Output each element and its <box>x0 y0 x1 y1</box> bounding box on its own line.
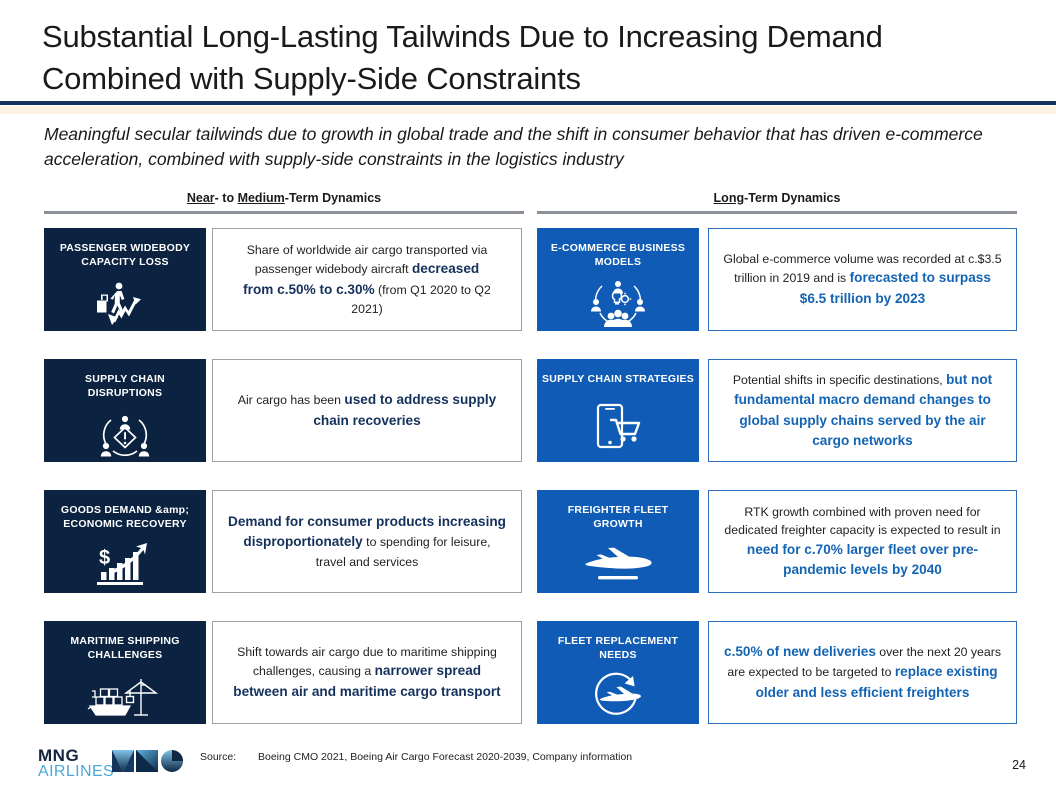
title-block: Substantial Long-Lasting Tailwinds Due t… <box>42 16 1022 99</box>
card-text: Share of worldwide air cargo transported… <box>227 241 507 318</box>
column-header-right-rule <box>537 211 1017 214</box>
tile-passenger-widebody-capacity-loss[interactable]: PASSENGER WIDEBODY CAPACITY LOSS <box>44 228 206 331</box>
source-note: Source:Boeing CMO 2021, Boeing Air Cargo… <box>200 751 632 763</box>
airplane-takeoff-icon <box>580 537 656 593</box>
list-item[interactable]: SUPPLY CHAIN DISRUPTIONS <box>44 359 522 462</box>
card-ecommerce-business-models: Global e-commerce volume was recorded at… <box>708 228 1017 331</box>
tile-maritime-shipping-challenges[interactable]: MARITIME SHIPPING CHALLENGES <box>44 621 206 724</box>
list-item[interactable]: SUPPLY CHAIN STRATEGIES <box>537 359 1017 462</box>
card-goods-demand-economic-recovery: Demand for consumer products increasing … <box>212 490 522 593</box>
svg-text:$: $ <box>99 547 110 569</box>
column-header-right-part-0: Long <box>714 191 745 205</box>
column-header-right-part-1: -Term Dynamics <box>744 191 840 205</box>
card-maritime-shipping-challenges: Shift towards air cargo due to maritime … <box>212 621 522 724</box>
tile-label: FLEET REPLACEMENT NEEDS <box>542 634 694 662</box>
mng-airlines-logo[interactable]: MNG AIRLINES <box>38 745 183 785</box>
title-divider-cream <box>0 106 1056 114</box>
traveler-with-luggage-declining-chart-icon <box>89 275 161 331</box>
column-header-left-part-3: -Term Dynamics <box>285 191 381 205</box>
logo-mark-icon <box>112 750 184 786</box>
tile-ecommerce-business-models[interactable]: E-COMMERCE BUSINESS MODELS <box>537 228 699 331</box>
list-item[interactable]: FLEET REPLACEMENT NEEDS c.50% of new del… <box>537 621 1017 724</box>
column-header-left-label: Near- to Medium-Term Dynamics <box>44 191 524 205</box>
tile-label: E-COMMERCE BUSINESS MODELS <box>542 241 694 269</box>
tile-goods-demand-economic-recovery[interactable]: GOODS DEMAND &amp; ECONOMIC RECOVERY $ <box>44 490 206 593</box>
tile-label: PASSENGER WIDEBODY CAPACITY LOSS <box>49 241 201 269</box>
list-item[interactable]: MARITIME SHIPPING CHALLENGES <box>44 621 522 724</box>
card-passenger-widebody-capacity-loss: Share of worldwide air cargo transported… <box>212 228 522 331</box>
column-header-near-medium-term: Near- to Medium-Term Dynamics <box>44 191 524 213</box>
list-item[interactable]: PASSENGER WIDEBODY CAPACITY LOSS Share <box>44 228 522 331</box>
card-text: RTK growth combined with proven need for… <box>723 503 1002 580</box>
card-text: Air cargo has been used to address suppl… <box>227 390 507 430</box>
tile-fleet-replacement-needs[interactable]: FLEET REPLACEMENT NEEDS <box>537 621 699 724</box>
card-freighter-fleet-growth: RTK growth combined with proven need for… <box>708 490 1017 593</box>
column-header-left-part-2: Medium <box>238 191 285 205</box>
tile-label: FREIGHTER FLEET GROWTH <box>542 503 694 531</box>
list-item[interactable]: GOODS DEMAND &amp; ECONOMIC RECOVERY $ <box>44 490 522 593</box>
tile-freighter-fleet-growth[interactable]: FREIGHTER FLEET GROWTH <box>537 490 699 593</box>
tile-label: SUPPLY CHAIN DISRUPTIONS <box>49 372 201 400</box>
airplane-renewal-cycle-icon <box>589 668 647 724</box>
dollar-growth-bar-chart-icon: $ <box>95 537 155 593</box>
list-item[interactable]: E-COMMERCE BUSINESS MODELS <box>537 228 1017 331</box>
column-header-left-part-1: - to <box>215 191 238 205</box>
source-text: Boeing CMO 2021, Boeing Air Cargo Foreca… <box>258 751 632 763</box>
tile-label: SUPPLY CHAIN STRATEGIES <box>542 372 694 386</box>
tile-supply-chain-disruptions[interactable]: SUPPLY CHAIN DISRUPTIONS <box>44 359 206 462</box>
card-text: Demand for consumer products increasing … <box>227 512 507 570</box>
card-supply-chain-strategies: Potential shifts in specific destination… <box>708 359 1017 462</box>
page-title: Substantial Long-Lasting Tailwinds Due t… <box>42 16 1022 99</box>
container-ship-crane-icon <box>86 668 164 724</box>
mobile-shopping-cart-icon <box>589 392 647 462</box>
column-header-left-part-0: Near <box>187 191 215 205</box>
card-text: Global e-commerce volume was recorded at… <box>723 250 1002 308</box>
card-text: Shift towards air cargo due to maritime … <box>227 643 507 701</box>
source-label: Source: <box>200 751 258 763</box>
subtitle: Meaningful secular tailwinds due to grow… <box>44 122 1019 173</box>
tile-supply-chain-strategies[interactable]: SUPPLY CHAIN STRATEGIES <box>537 359 699 462</box>
card-fleet-replacement-needs: c.50% of new deliveries over the next 20… <box>708 621 1017 724</box>
slide-root: Substantial Long-Lasting Tailwinds Due t… <box>0 0 1056 792</box>
list-item[interactable]: FREIGHTER FLEET GROWTH RTK growth combin… <box>537 490 1017 593</box>
people-network-idea-icon <box>586 275 650 331</box>
column-header-left-rule <box>44 211 524 214</box>
column-header-right-label: Long-Term Dynamics <box>537 191 1017 205</box>
card-supply-chain-disruptions: Air cargo has been used to address suppl… <box>212 359 522 462</box>
page-number: 24 <box>1012 758 1026 772</box>
card-text: Potential shifts in specific destination… <box>723 370 1002 450</box>
card-text: c.50% of new deliveries over the next 20… <box>723 642 1002 702</box>
tile-label: GOODS DEMAND &amp; ECONOMIC RECOVERY <box>49 503 201 531</box>
tile-label: MARITIME SHIPPING CHALLENGES <box>49 634 201 662</box>
column-header-long-term: Long-Term Dynamics <box>537 191 1017 213</box>
supply-chain-network-alert-icon <box>97 406 153 462</box>
logo-secondary-text: AIRLINES <box>38 763 114 781</box>
